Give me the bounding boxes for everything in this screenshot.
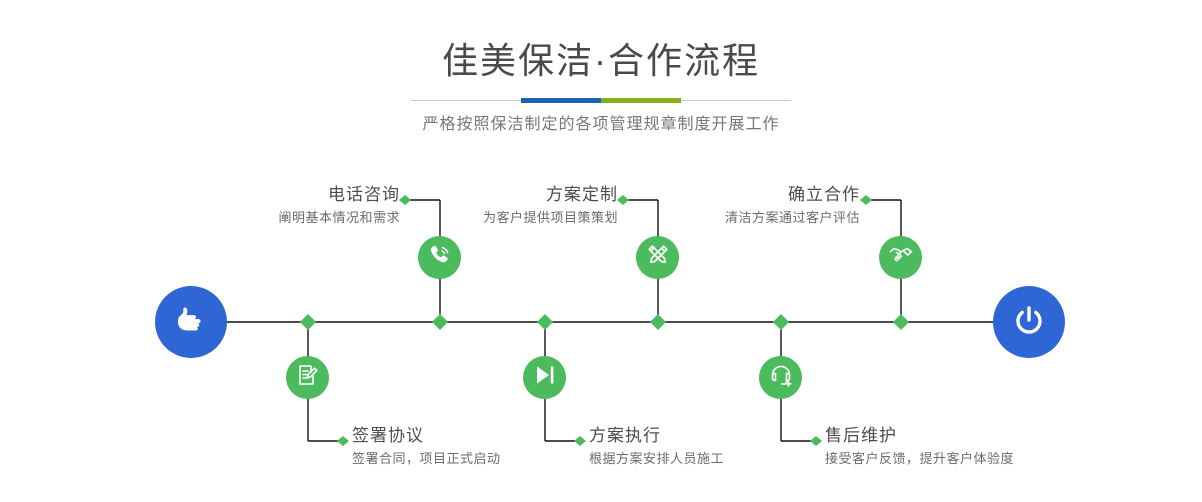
axis-diamond-step-6: [773, 314, 789, 330]
phone-call-icon: [427, 242, 453, 273]
step-desc-step-6: 接受客户反馈，提升客户体验度: [825, 447, 1185, 469]
axis-diamond-step-3: [650, 314, 666, 330]
document-edit-icon: [295, 362, 321, 393]
step-node-step-5[interactable]: [879, 236, 922, 279]
pointing-hand-icon: [171, 300, 211, 345]
page-subtitle: 严格按照保洁制定的各项管理规章制度开展工作: [0, 103, 1202, 137]
flow-diagram: 电话咨询 阐明基本情况和需求 方案定制 为客户提供项目策策划: [0, 150, 1202, 502]
axis-diamond-step-1: [432, 314, 448, 330]
play-forward-icon: [532, 362, 558, 393]
axis-diamond-step-5: [893, 314, 909, 330]
axis-diamond-step-4: [537, 314, 553, 330]
divider-segment-green: [601, 98, 681, 103]
flow-start-node[interactable]: [155, 286, 227, 358]
power-icon: [1009, 300, 1049, 345]
flow-end-node[interactable]: [993, 286, 1065, 358]
step-node-step-1[interactable]: [418, 236, 461, 279]
handshake-icon: [888, 242, 914, 273]
axis-diamond-step-2: [300, 314, 316, 330]
step-node-step-2[interactable]: [286, 356, 329, 399]
step-desc-step-5: 清洁方案通过客户评估: [512, 206, 860, 228]
divider-segment-blue: [521, 98, 601, 103]
step-title-step-5: 确立合作: [512, 184, 860, 206]
branch-diamond-step-2: [337, 436, 349, 446]
step-title-step-6: 售后维护: [825, 425, 1185, 447]
step-label-step-5: 确立合作 清洁方案通过客户评估: [512, 184, 860, 228]
step-node-step-4[interactable]: [523, 356, 566, 399]
step-node-step-3[interactable]: [636, 236, 679, 279]
page-title: 佳美保洁·合作流程: [0, 0, 1202, 84]
headset-add-icon: [768, 362, 794, 393]
branch-diamond-step-5: [860, 195, 872, 205]
header: 佳美保洁·合作流程 严格按照保洁制定的各项管理规章制度开展工作: [0, 0, 1202, 137]
title-divider: [411, 98, 791, 103]
process-flow-infographic: 佳美保洁·合作流程 严格按照保洁制定的各项管理规章制度开展工作: [0, 0, 1202, 502]
pen-ruler-icon: [645, 242, 671, 273]
step-node-step-6[interactable]: [759, 356, 802, 399]
step-label-step-6: 售后维护 接受客户反馈，提升客户体验度: [825, 425, 1185, 469]
